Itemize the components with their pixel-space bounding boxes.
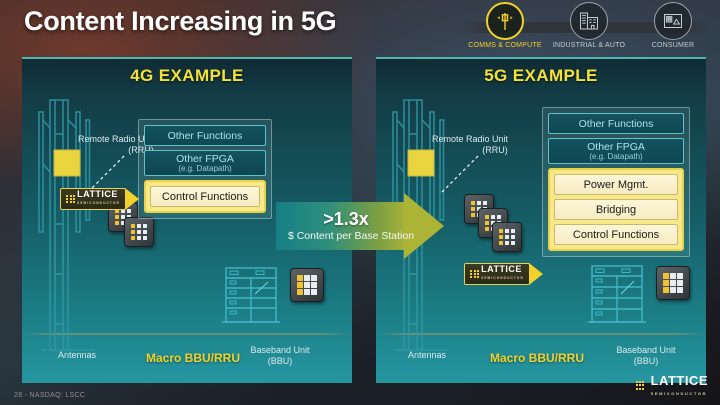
label-antennas-5g: Antennas (390, 350, 464, 361)
function-box-label: Other Functions (579, 118, 654, 130)
category-label: CONSUMER (634, 42, 712, 49)
chip-group-5g (464, 194, 540, 254)
lattice-logo-mark: LATTICE SEMICONDUCTOR (470, 265, 524, 283)
function-box-label: Control Functions (573, 229, 659, 241)
badge-arrow-icon (529, 263, 543, 285)
function-box-label: Power Mgmt. (584, 179, 649, 191)
function-box-other-functions: Other Functions (548, 113, 684, 134)
fpga-chip-icon (290, 268, 324, 302)
baseband-rack-5g (588, 262, 646, 326)
footer-note: 28 - NASDAQ: LSCC (14, 392, 85, 399)
function-box-sublabel: (e.g. Datapath) (589, 152, 642, 161)
function-box-other-fpga: Other FPGA (e.g. Datapath) (548, 138, 684, 164)
panel-5g-header-label: 5G EXAMPLE (484, 66, 598, 86)
panel-4g-header-label: 4G EXAMPLE (130, 66, 244, 86)
lattice-logo-mark: LATTICE SEMICONDUCTOR (66, 190, 120, 208)
function-stack-4g: Other Functions Other FPGA (e.g. Datapat… (138, 119, 272, 219)
lattice-badge-4g: LATTICE SEMICONDUCTOR (60, 188, 126, 210)
lattice-grid-icon (66, 195, 75, 204)
lattice-content-group-5g: Power Mgmt. Bridging Control Functions (548, 168, 684, 251)
fpga-chip-icon (492, 222, 522, 252)
fpga-chip-icon (124, 217, 154, 247)
function-box-power-mgmt: Power Mgmt. (554, 174, 678, 195)
rru-leader-line-5g (436, 154, 480, 198)
function-box-label: Control Functions (162, 191, 248, 203)
lattice-content-group-4g: Control Functions (144, 180, 266, 213)
panel-5g-header: 5G EXAMPLE (376, 59, 706, 92)
function-box-other-functions: Other Functions (144, 125, 266, 146)
category-label: COMMS & COMPUTE (466, 42, 544, 49)
lattice-badge-5g: LATTICE SEMICONDUCTOR (464, 263, 530, 285)
lattice-grid-icon (470, 270, 479, 279)
page-title: Content Increasing in 5G (24, 6, 336, 37)
function-box-control-functions: Control Functions (150, 186, 260, 207)
lattice-wordmark: LATTICE SEMICONDUCTOR (77, 190, 120, 208)
function-box-bridging: Bridging (554, 199, 678, 220)
arrow-caption: $ Content per Base Station (276, 230, 426, 242)
function-stack-5g: Other Functions Other FPGA (e.g. Datapat… (542, 107, 690, 257)
category-label: INDUSTRIAL & AUTO (550, 42, 628, 49)
label-antennas-4g: Antennas (40, 350, 114, 361)
rru-callout-line1: Remote Radio Unit (432, 134, 552, 145)
lattice-wordmark: LATTICE SEMICONDUCTOR (651, 374, 708, 400)
rru-callout-5g: Remote Radio Unit (RRU) (432, 134, 552, 156)
factory-icon (570, 2, 608, 40)
baseband-rack-4g (222, 264, 280, 326)
badge-arrow-icon (125, 188, 139, 210)
lattice-wordmark: LATTICE SEMICONDUCTOR (481, 265, 524, 283)
category-industrial-and-auto[interactable]: INDUSTRIAL & AUTO (550, 2, 628, 49)
lattice-logo-mark: LATTICE SEMICONDUCTOR (636, 374, 708, 400)
arrow-multiplier: >1.3x (276, 209, 416, 230)
content-growth-arrow: >1.3x $ Content per Base Station (276, 193, 444, 259)
fpga-chip-icon (656, 266, 690, 300)
label-baseband-unit-4g: Baseband Unit (BBU) (220, 345, 340, 367)
function-box-control-functions: Control Functions (554, 224, 678, 245)
television-icon (654, 2, 692, 40)
cell-tower-icon (486, 2, 524, 40)
market-category-strip: COMMS & COMPUTE INDUSTRIAL & A (466, 2, 712, 54)
category-consumer[interactable]: CONSUMER (634, 2, 712, 49)
category-comms-and-compute[interactable]: COMMS & COMPUTE (466, 2, 544, 49)
panel-4g-header: 4G EXAMPLE (22, 59, 352, 92)
function-box-sublabel: (e.g. Datapath) (178, 164, 231, 173)
function-box-other-fpga: Other FPGA (e.g. Datapath) (144, 150, 266, 176)
label-baseband-unit-5g: Baseband Unit (BBU) (586, 345, 706, 367)
lattice-grid-icon (636, 381, 648, 393)
function-box-label: Other Functions (168, 130, 243, 142)
lattice-footer-logo: LATTICE SEMICONDUCTOR (636, 374, 708, 400)
function-box-label: Bridging (596, 204, 636, 216)
slide-canvas: Content Increasing in 5G COMMS & COMPUTE (0, 0, 720, 405)
